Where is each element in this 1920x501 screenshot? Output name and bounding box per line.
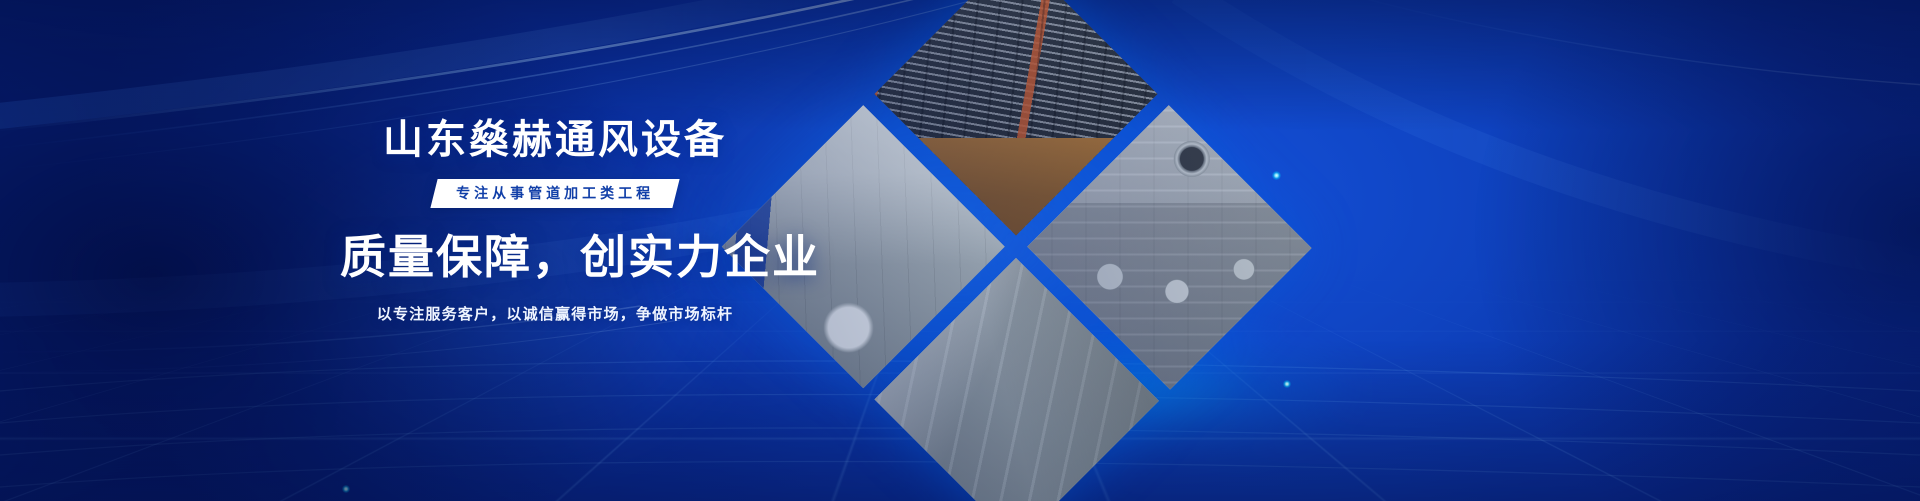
glow-particle-icon (342, 485, 350, 493)
company-title: 山东燊赫通风设备 (340, 118, 770, 163)
subtitle-badge: 专注从事管道加工类工程 (430, 179, 679, 208)
subtitle-badge-wrapper: 专注从事管道加工类工程 (340, 179, 770, 208)
glow-particle-icon (1272, 171, 1281, 180)
banner-headline: 质量保障，创实力企业 (340, 232, 770, 283)
subtitle-badge-label: 专注从事管道加工类工程 (456, 186, 654, 200)
hero-banner: 山东燊赫通风设备 专注从事管道加工类工程 质量保障，创实力企业 以专注服务客户，… (0, 0, 1920, 501)
glow-particle-icon (1283, 380, 1291, 388)
banner-tagline: 以专注服务客户，以诚信赢得市场，争做市场标杆 (340, 303, 770, 324)
diamond-photo-collage (800, 42, 1232, 474)
banner-copy-block: 山东燊赫通风设备 专注从事管道加工类工程 质量保障，创实力企业 以专注服务客户，… (340, 118, 770, 324)
